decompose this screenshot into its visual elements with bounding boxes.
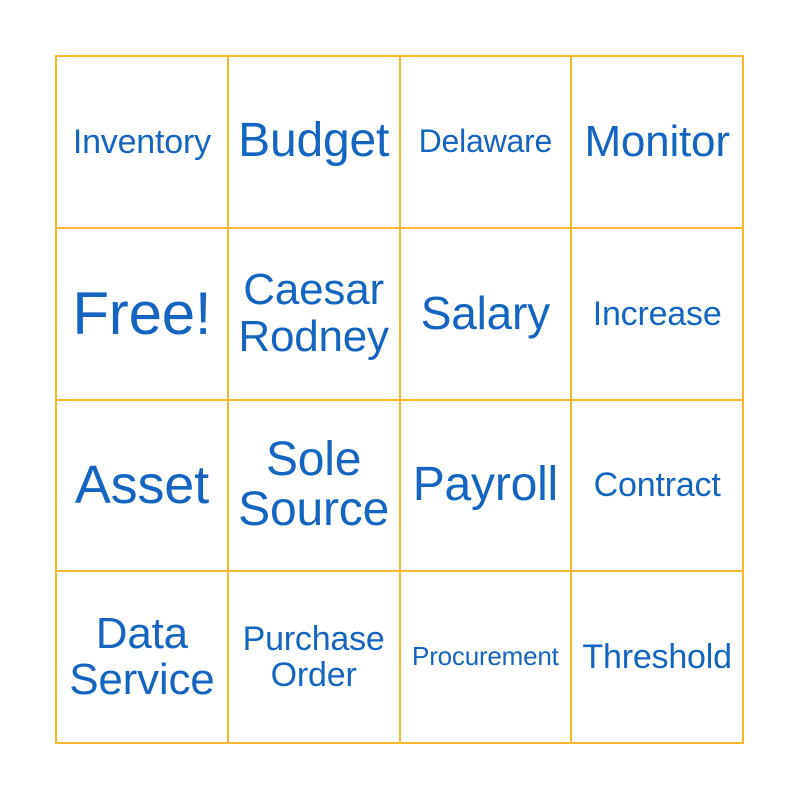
bingo-cell-r4c3[interactable]: Procurement [401, 572, 573, 744]
bingo-cell-r4c2[interactable]: Purchase Order [229, 572, 401, 744]
bingo-cell-label: Monitor [576, 119, 738, 166]
bingo-cell-r2c1-free-space[interactable]: Free! [57, 229, 229, 401]
bingo-cell-r4c4[interactable]: Threshold [572, 572, 744, 744]
bingo-cell-r1c4[interactable]: Monitor [572, 57, 744, 229]
bingo-cell-r3c2[interactable]: Sole Source [229, 401, 401, 573]
bingo-cell-r3c3[interactable]: Payroll [401, 401, 573, 573]
bingo-cell-label: Procurement [405, 643, 567, 671]
bingo-cell-label: Budget [233, 116, 395, 167]
bingo-cell-label: Increase [576, 296, 738, 332]
bingo-cell-label: Data Service [61, 611, 223, 704]
bingo-cell-label: Asset [61, 457, 223, 514]
bingo-cell-label: Contract [576, 467, 738, 503]
bingo-cell-label: Purchase Order [233, 621, 395, 693]
bingo-cell-label: Payroll [405, 460, 567, 511]
bingo-cell-r2c3[interactable]: Salary [401, 229, 573, 401]
bingo-cell-r1c3[interactable]: Delaware [401, 57, 573, 229]
bingo-cell-r1c1[interactable]: Inventory [57, 57, 229, 229]
bingo-cell-label: Threshold [576, 639, 738, 675]
bingo-cell-r2c4[interactable]: Increase [572, 229, 744, 401]
bingo-cell-r1c2[interactable]: Budget [229, 57, 401, 229]
bingo-cell-r3c4[interactable]: Contract [572, 401, 744, 573]
bingo-cell-label: Inventory [61, 124, 223, 160]
bingo-cell-r4c1[interactable]: Data Service [57, 572, 229, 744]
bingo-cell-label: Salary [405, 289, 567, 338]
bingo-card-grid: Inventory Budget Delaware Monitor Free! … [55, 55, 744, 744]
bingo-cell-label: Free! [61, 282, 223, 346]
bingo-cell-label: Caesar Rodney [233, 267, 395, 360]
bingo-cell-label: Delaware [405, 125, 567, 159]
bingo-cell-r2c2[interactable]: Caesar Rodney [229, 229, 401, 401]
bingo-cell-r3c1[interactable]: Asset [57, 401, 229, 573]
bingo-cell-label: Sole Source [233, 435, 395, 537]
